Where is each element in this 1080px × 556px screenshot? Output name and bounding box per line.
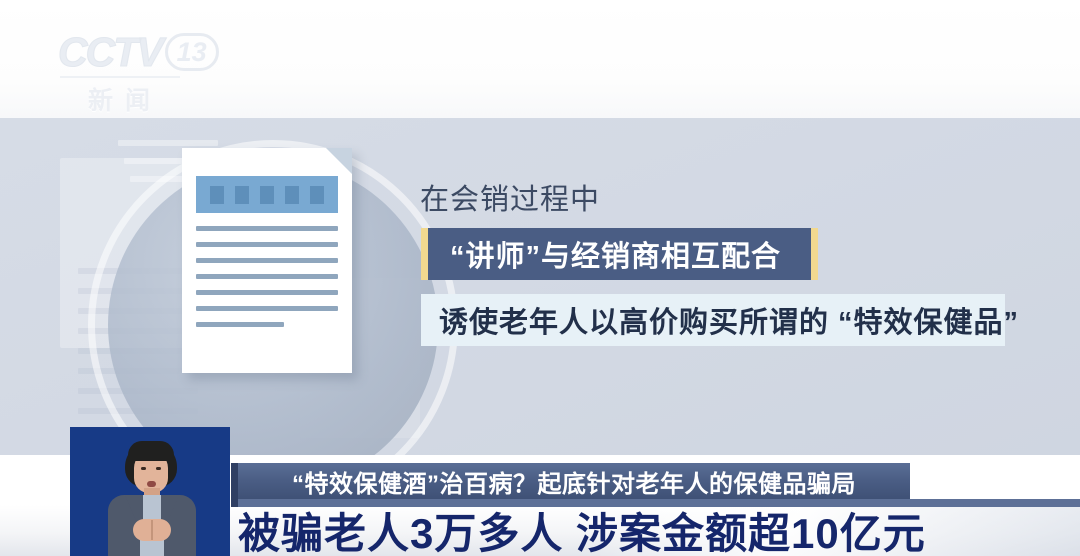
interpreter-eye-right <box>156 467 161 470</box>
document-text-line <box>196 290 338 295</box>
logo-divider-rule <box>60 76 180 78</box>
caption-bar-secondary: 诱使老年人以高价购买所谓的 “特效保健品” <box>421 294 1005 346</box>
document-text-line <box>196 306 338 311</box>
gold-edge-left <box>421 228 428 280</box>
caption-bar-primary-fill: “讲师”与经销商相互配合 <box>428 228 811 280</box>
caption-bar-primary-text: “讲师”与经销商相互配合 <box>450 233 781 275</box>
document-illustration <box>182 148 352 373</box>
cctv-wordmark: CCTV <box>58 29 162 76</box>
document-header-band <box>196 176 338 213</box>
lower-third-headline: 被骗老人3万多人 涉案金额超10亿元 <box>238 505 1080 556</box>
document-text-lines <box>196 226 338 338</box>
lower-third-strap-text: “特效保健酒”治百病？起底针对老年人的保健品骗局 <box>292 464 856 499</box>
gold-edge-right <box>811 228 818 280</box>
cctv13-news-logo: CCTV 13 新闻 <box>58 26 228 108</box>
lower-third-strap: “特效保健酒”治百病？起底针对老年人的保健品骗局 <box>238 463 910 499</box>
document-header-square <box>260 186 274 204</box>
lower-third-headline-text: 被骗老人3万多人 涉案金额超10亿元 <box>238 500 926 556</box>
interpreter-hand-divider <box>151 520 153 540</box>
caption-bar-secondary-text: 诱使老年人以高价购买所谓的 “特效保健品” <box>439 299 1019 341</box>
interpreter-eye-left <box>141 467 146 470</box>
logo-subtitle: 新闻 <box>88 81 162 117</box>
channel-number-badge: 13 <box>165 33 219 71</box>
document-header-square <box>310 186 324 204</box>
document-text-line <box>196 226 338 231</box>
caption-bar-primary: “讲师”与经销商相互配合 <box>421 228 818 280</box>
document-header-square <box>210 186 224 204</box>
channel-header-strip: CCTV 13 新闻 <box>0 0 1080 118</box>
caption-intro-line: 在会销过程中 <box>420 176 600 218</box>
interpreter-mouth <box>147 481 156 487</box>
interpreter-fringe <box>128 441 174 461</box>
document-header-square <box>235 186 249 204</box>
sign-language-interpreter-inset: 手语翻译 <box>70 427 230 556</box>
document-text-line <box>196 322 284 327</box>
document-text-line <box>196 242 338 247</box>
logo-main-row: CCTV 13 <box>58 26 228 78</box>
broadcast-screenshot: CCTV 13 新闻 <box>0 0 1080 556</box>
document-text-line <box>196 258 338 263</box>
strap-left-cap <box>231 463 238 507</box>
ghost-line <box>118 140 218 146</box>
document-text-line <box>196 274 338 279</box>
document-header-square <box>285 186 299 204</box>
document-fold-corner <box>326 148 352 174</box>
